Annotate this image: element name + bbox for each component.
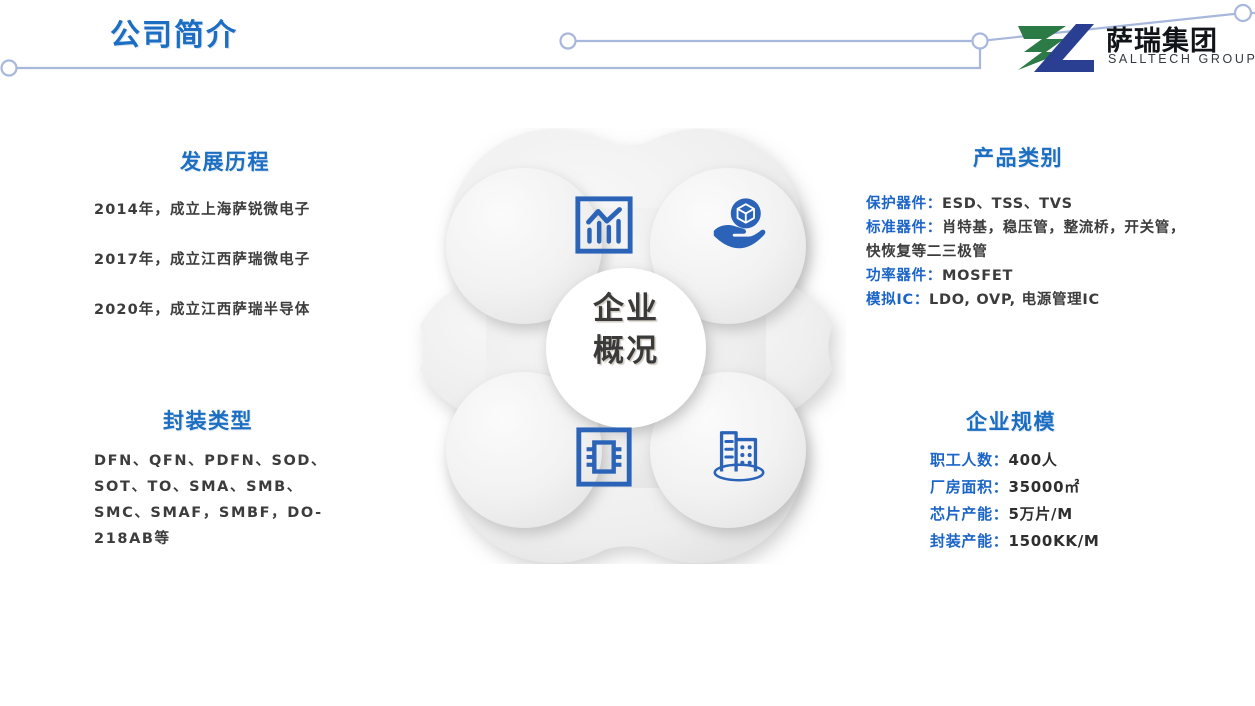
list-item: 职工人数：400人: [930, 447, 1230, 474]
logo-english-name: SALLTECH GROUP: [1108, 52, 1255, 66]
slide-canvas: 公司简介 萨瑞集团 SALLTECH GROUP 发展历程 2014年，成立上海…: [0, 0, 1255, 706]
list-item: 2020年，成立江西萨瑞半导体: [94, 298, 414, 319]
decoration-node-step: [973, 34, 988, 49]
product-label: 标准器件：: [866, 220, 942, 236]
chip-icon: [573, 426, 635, 488]
list-item: 2017年，成立江西萨瑞微电子: [94, 248, 414, 269]
scale-label: 职工人数：: [930, 451, 1009, 469]
scale-label: 芯片产能：: [930, 505, 1009, 523]
scale-value: 1500KK/M: [1009, 532, 1100, 550]
product-label: 模拟IC：: [866, 292, 929, 308]
decoration-node-right: [1235, 5, 1251, 21]
decoration-node-left: [2, 61, 17, 76]
product-value: MOSFET: [942, 268, 1013, 284]
decoration-node-middle: [561, 34, 576, 49]
scale-value: 5万片/M: [1009, 505, 1073, 523]
scale-value: 400人: [1009, 451, 1058, 469]
list-item: 厂房面积：35000㎡: [930, 474, 1230, 501]
list-item: 保护器件：ESD、TSS、TVS: [866, 192, 1196, 216]
list-item: 功率器件：MOSFET: [866, 264, 1196, 288]
scale-value: 35000㎡: [1009, 478, 1080, 496]
list-item: 封装产能：1500KK/M: [930, 528, 1230, 555]
scale-label: 封装产能：: [930, 532, 1009, 550]
diagram-center-label: 企业 概况: [558, 288, 694, 372]
heading-package-type: 封装类型: [163, 405, 253, 435]
product-value: ESD、TSS、TVS: [942, 196, 1073, 212]
product-label: 保护器件：: [866, 196, 942, 212]
heading-development-history: 发展历程: [180, 146, 270, 176]
logo-mark-icon: [1016, 22, 1098, 74]
development-history-list: 2014年，成立上海萨锐微电子 2017年，成立江西萨瑞微电子 2020年，成立…: [94, 198, 414, 348]
list-item: 2014年，成立上海萨锐微电子: [94, 198, 414, 219]
list-item: 芯片产能：5万片/M: [930, 501, 1230, 528]
building-icon: [708, 426, 770, 488]
brand-logo: 萨瑞集团 SALLTECH GROUP: [1016, 20, 1242, 78]
hand-package-icon: [708, 194, 770, 256]
heading-product-category: 产品类别: [973, 142, 1063, 172]
enterprise-scale-list: 职工人数：400人 厂房面积：35000㎡ 芯片产能：5万片/M 封装产能：15…: [930, 447, 1230, 555]
list-item: 标准器件：肖特基，稳压管，整流桥，开关管，快恢复等二三极管: [866, 216, 1196, 264]
product-label: 功率器件：: [866, 268, 942, 284]
product-category-list: 保护器件：ESD、TSS、TVS 标准器件：肖特基，稳压管，整流桥，开关管，快恢…: [866, 192, 1196, 312]
chart-icon: [573, 194, 635, 256]
logo-wordmark: 萨瑞集团 SALLTECH GROUP: [1106, 20, 1246, 76]
page-title: 公司简介: [110, 10, 238, 54]
product-value: LDO, OVP, 电源管理IC: [929, 292, 1100, 308]
list-item: 模拟IC：LDO, OVP, 电源管理IC: [866, 288, 1196, 312]
enterprise-overview-diagram: 企业 概况: [406, 128, 846, 564]
center-label-line2: 概况: [558, 330, 694, 372]
package-type-text: DFN、QFN、PDFN、SOD、SOT、TO、SMA、SMB、SMC、SMAF…: [94, 448, 344, 552]
scale-label: 厂房面积：: [930, 478, 1009, 496]
center-label-line1: 企业: [558, 288, 694, 330]
heading-enterprise-scale: 企业规模: [966, 406, 1056, 436]
